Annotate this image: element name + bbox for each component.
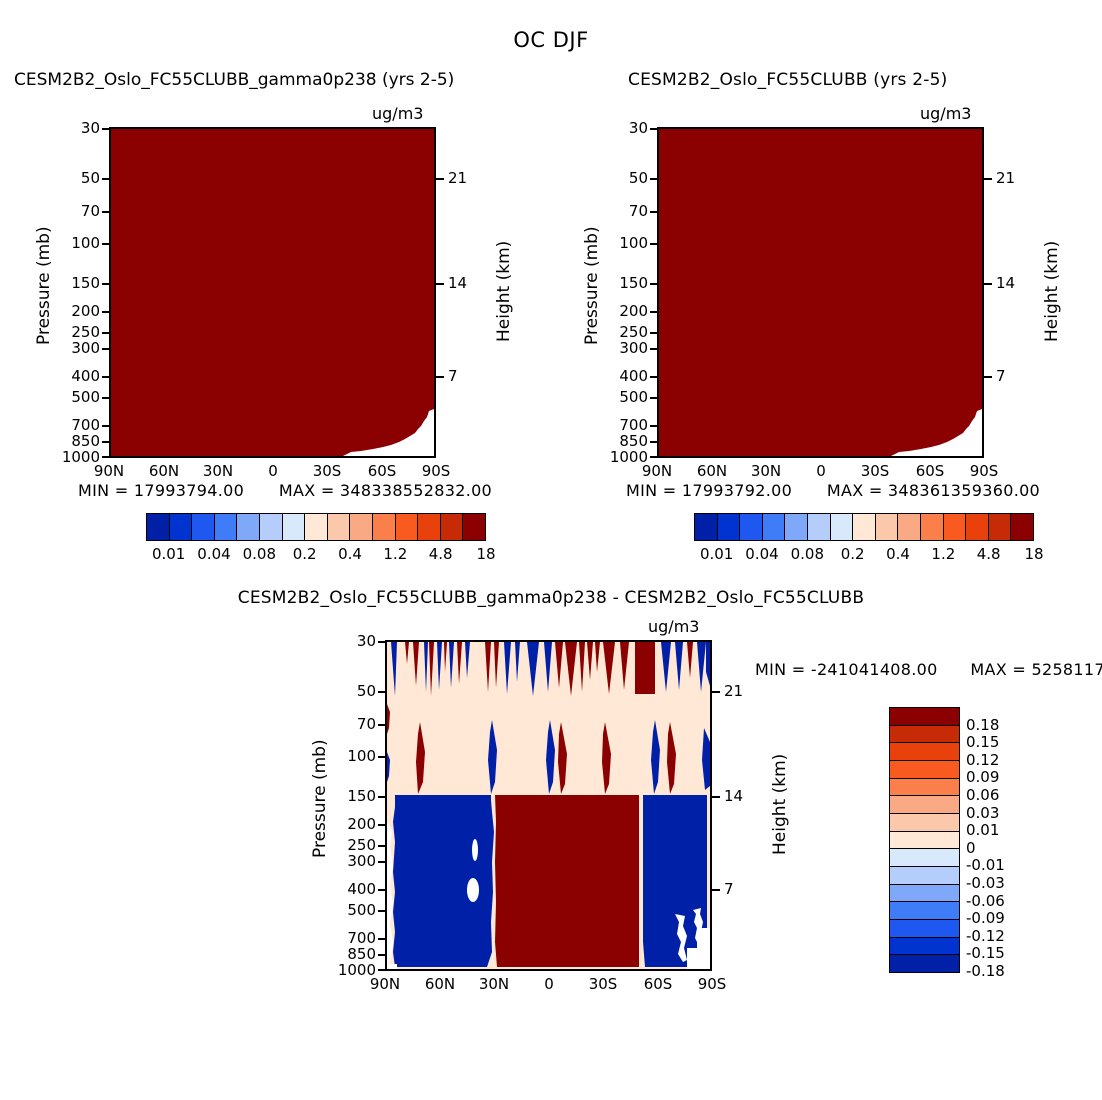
ytick-label: 1000 [42, 450, 100, 465]
ytick-label: 50 [326, 684, 376, 699]
min-label: MIN = -241041408.00 [755, 660, 938, 679]
ytick-label: 250 [50, 325, 100, 340]
colorbar-tick-label: 0.12 [966, 751, 999, 769]
colorbar-cell [890, 885, 959, 903]
colorbar-tick-label: 0.2 [841, 545, 865, 563]
xtick-label: 60S [359, 464, 405, 479]
ytick-label: 700 [50, 418, 100, 433]
y2tick-label: 21 [996, 171, 1036, 186]
ytick-label: 150 [598, 276, 648, 291]
max-label: MAX = 348338552832.00 [279, 481, 492, 500]
colorbar-cell [898, 514, 921, 540]
colorbar-tick-label: -0.09 [966, 909, 1005, 927]
colorbar-tick-label: 0.18 [966, 716, 999, 734]
colorbar-cell [890, 726, 959, 744]
colorbar-cell [890, 796, 959, 814]
colorbar-cell [989, 514, 1012, 540]
colorbar-cell [890, 955, 959, 972]
ytick-label: 400 [598, 369, 648, 384]
colorbar-tick-label: 0.15 [966, 733, 999, 751]
ytick-label: 500 [50, 390, 100, 405]
colorbar-tick-label: 18 [1024, 545, 1043, 563]
colorbar-cell [921, 514, 944, 540]
ytick-label: 850 [598, 434, 648, 449]
xtick-label: 0 [798, 464, 844, 479]
colorbar-cell [808, 514, 831, 540]
ytick-label: 200 [50, 304, 100, 319]
ytick-label: 300 [598, 341, 648, 356]
xtick-label: 30N [471, 977, 517, 992]
colorbar-tick-label: 0.4 [886, 545, 910, 563]
colorbar-tick-label: -0.12 [966, 927, 1005, 945]
colorbar-cell [1011, 514, 1033, 540]
xtick-label: 30N [195, 464, 241, 479]
contour-fill-top-right [659, 129, 982, 456]
ytick-label: 700 [326, 931, 376, 946]
colorbar-tick-label: 0.01 [966, 821, 999, 839]
y2tick-label: 14 [448, 276, 488, 291]
colorbar-tick-label: 1.2 [931, 545, 955, 563]
xtick-label: 90S [413, 464, 459, 479]
ytick-label: 100 [598, 236, 648, 251]
colorbar-tick-label: 4.8 [977, 545, 1001, 563]
ytick-label: 70 [598, 204, 648, 219]
ytick-label: 70 [50, 204, 100, 219]
contour-fill-top-left [111, 129, 434, 456]
page-title: OC DJF [0, 28, 1102, 52]
y2tick-label: 21 [448, 171, 488, 186]
ytick-label: 30 [598, 121, 648, 136]
minmax-top-left: MIN = 17993794.00 MAX = 348338552832.00 [78, 481, 492, 500]
ytick-label: 250 [326, 838, 376, 853]
colorbar-cell [890, 814, 959, 832]
lower-region [387, 795, 710, 969]
xtick-label: 60S [635, 977, 681, 992]
y-axis-title-top-right: Pressure (mb) [582, 226, 602, 345]
units-label-top-right: ug/m3 [920, 104, 971, 123]
y-axis-title-top-left: Pressure (mb) [34, 226, 54, 345]
colorbar-cell [890, 832, 959, 850]
xtick-label: 90N [362, 977, 408, 992]
xtick-label: 60S [907, 464, 953, 479]
colorbar-tick-label: 1.2 [383, 545, 407, 563]
max-label: MAX = 52581171 [970, 660, 1102, 679]
colorbar-cell [695, 514, 718, 540]
ytick-label: 100 [326, 749, 376, 764]
colorbar-tick-label: 0.09 [966, 768, 999, 786]
colorbar-labels-top-right: 0.010.040.080.20.41.24.818 [694, 545, 1032, 565]
ytick-label: 200 [598, 304, 648, 319]
ytick-label: 300 [50, 341, 100, 356]
minmax-difference: MIN = -241041408.00 MAX = 52581171 [755, 660, 1102, 679]
colorbar-cell [890, 920, 959, 938]
colorbar-cell [890, 867, 959, 885]
panel-title-top-right: CESM2B2_Oslo_FC55CLUBB (yrs 2-5) [628, 70, 947, 90]
colorbar-tick-label: 4.8 [429, 545, 453, 563]
xtick-label: 90S [961, 464, 1007, 479]
ytick-label: 850 [50, 434, 100, 449]
ytick-label: 250 [598, 325, 648, 340]
y2tick-label: 14 [996, 276, 1036, 291]
ytick-label: 70 [326, 717, 376, 732]
colorbar-cell [718, 514, 741, 540]
xtick-label: 90N [634, 464, 680, 479]
plot-area-top-right [657, 127, 984, 458]
colorbar-cell [441, 514, 464, 540]
ytick-label: 1000 [590, 450, 648, 465]
colorbar-tick-label: -0.15 [966, 944, 1005, 962]
colorbar-labels-top-left: 0.010.040.080.20.41.24.818 [146, 545, 484, 565]
y2tick-label: 7 [996, 369, 1036, 384]
y2-axis-title-top-right: Height (km) [1042, 241, 1062, 342]
colorbar-cell [890, 743, 959, 761]
colorbar-cell [463, 514, 485, 540]
min-label: MIN = 17993792.00 [626, 481, 792, 500]
y-axis-title-difference: Pressure (mb) [310, 739, 330, 858]
ytick-label: 200 [326, 817, 376, 832]
min-label: MIN = 17993794.00 [78, 481, 244, 500]
y2-axis-title-top-left: Height (km) [494, 241, 514, 342]
ytick-label: 150 [326, 789, 376, 804]
colorbar-cell [192, 514, 215, 540]
colorbar-cell [890, 761, 959, 779]
colorbar-tick-label: 0.08 [791, 545, 824, 563]
colorbar-tick-label: 0.08 [243, 545, 276, 563]
ytick-label: 150 [50, 276, 100, 291]
xtick-label: 30N [743, 464, 789, 479]
colorbar-cell [215, 514, 238, 540]
colorbar-tick-label: 0.06 [966, 786, 999, 804]
colorbar-cell [890, 938, 959, 956]
xtick-label: 60N [689, 464, 735, 479]
ytick-label: 500 [326, 903, 376, 918]
y2tick-label: 21 [724, 684, 764, 699]
xtick-label: 90S [689, 977, 735, 992]
colorbar-tick-label: -0.06 [966, 892, 1005, 910]
colorbar-cell [966, 514, 989, 540]
colorbar-cell [890, 779, 959, 797]
minmax-top-right: MIN = 17993792.00 MAX = 348361359360.00 [626, 481, 1040, 500]
colorbar-cell [763, 514, 786, 540]
ytick-label: 400 [326, 882, 376, 897]
colorbar-cell [260, 514, 283, 540]
colorbar-tick-label: -0.01 [966, 856, 1005, 874]
ytick-label: 700 [598, 418, 648, 433]
colorbar-cell [740, 514, 763, 540]
colorbar-cell [396, 514, 419, 540]
ytick-label: 50 [598, 171, 648, 186]
colorbar-tick-label: 0 [966, 839, 976, 857]
xtick-label: 30S [304, 464, 350, 479]
ytick-label: 100 [50, 236, 100, 251]
colorbar-tick-label: 0.4 [338, 545, 362, 563]
xtick-label: 30S [852, 464, 898, 479]
max-label: MAX = 348361359360.00 [827, 481, 1040, 500]
colorbar-cell [350, 514, 373, 540]
units-label-difference: ug/m3 [648, 617, 699, 636]
ytick-label: 500 [598, 390, 648, 405]
plot-area-difference [385, 640, 712, 971]
xtick-label: 60N [417, 977, 463, 992]
colorbar-tick-label: 0.01 [152, 545, 185, 563]
ytick-label: 30 [326, 634, 376, 649]
ytick-label: 1000 [318, 963, 376, 978]
colorbar-cell [283, 514, 306, 540]
colorbar-tick-label: 0.04 [745, 545, 778, 563]
colorbar-cell [373, 514, 396, 540]
y2tick-label: 7 [448, 369, 488, 384]
colorbar-cell [785, 514, 808, 540]
panel-title-top-left: CESM2B2_Oslo_FC55CLUBB_gamma0p238 (yrs 2… [14, 70, 454, 90]
colorbar-cell [237, 514, 260, 540]
plot-area-top-left [109, 127, 436, 458]
y2-axis-title-difference: Height (km) [770, 754, 790, 855]
ytick-label: 50 [50, 171, 100, 186]
units-label-top-left: ug/m3 [372, 104, 423, 123]
panel-title-difference: CESM2B2_Oslo_FC55CLUBB_gamma0p238 - CESM… [0, 588, 1102, 608]
colorbar-top-left [146, 513, 486, 541]
colorbar-tick-label: 0.2 [293, 545, 317, 563]
colorbar-top-right [694, 513, 1034, 541]
colorbar-tick-label: 0.03 [966, 804, 999, 822]
xtick-label: 90N [86, 464, 132, 479]
ytick-label: 300 [326, 854, 376, 869]
colorbar-cell [170, 514, 193, 540]
y2tick-label: 7 [724, 882, 764, 897]
colorbar-tick-label: -0.03 [966, 874, 1005, 892]
colorbar-cell [876, 514, 899, 540]
colorbar-cell [890, 708, 959, 726]
colorbar-tick-label: 18 [476, 545, 495, 563]
colorbar-difference [889, 707, 960, 973]
colorbar-cell [418, 514, 441, 540]
colorbar-cell [944, 514, 967, 540]
colorbar-cell [305, 514, 328, 540]
colorbar-cell [831, 514, 854, 540]
colorbar-cell [890, 849, 959, 867]
xtick-label: 0 [526, 977, 572, 992]
xtick-label: 60N [141, 464, 187, 479]
colorbar-cell [147, 514, 170, 540]
colorbar-cell [328, 514, 351, 540]
y2tick-label: 14 [724, 789, 764, 804]
ytick-label: 850 [326, 947, 376, 962]
colorbar-tick-label: 0.01 [700, 545, 733, 563]
xtick-label: 0 [250, 464, 296, 479]
ytick-label: 400 [50, 369, 100, 384]
colorbar-tick-label: 0.04 [197, 545, 230, 563]
ytick-label: 30 [50, 121, 100, 136]
colorbar-cell [890, 902, 959, 920]
colorbar-tick-label: -0.18 [966, 962, 1005, 980]
colorbar-cell [853, 514, 876, 540]
colorbar-labels-difference: 0.180.150.120.090.060.030.010-0.01-0.03-… [966, 707, 1036, 971]
xtick-label: 30S [580, 977, 626, 992]
contour-fill-difference [387, 642, 710, 969]
